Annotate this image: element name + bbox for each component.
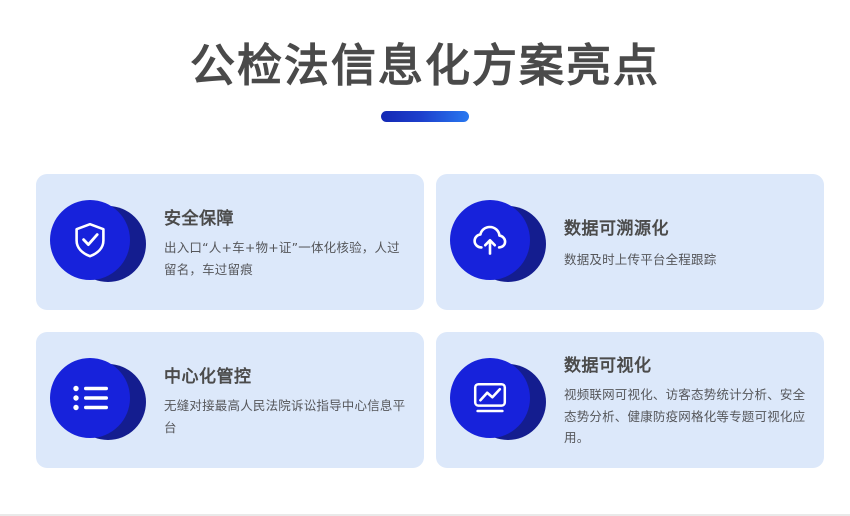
card-description: 出入口“人+车+物+证”一体化核验，人过留名，车过留痕 (164, 237, 408, 280)
highlight-card-centralized-control[interactable]: 中心化管控 无缝对接最高人民法院诉讼指导中心信息平台 (36, 332, 424, 468)
card-title: 中心化管控 (164, 362, 408, 387)
icon-badge (50, 196, 146, 288)
highlight-card-security[interactable]: 安全保障 出入口“人+车+物+证”一体化核验，人过留名，车过留痕 (36, 174, 424, 310)
icon-circle (450, 200, 530, 280)
highlight-card-data-traceability[interactable]: 数据可溯源化 数据及时上传平台全程跟踪 (436, 174, 824, 310)
card-description: 无缝对接最高人民法院诉讼指导中心信息平台 (164, 395, 408, 438)
highlight-card-data-visualization[interactable]: 数据可视化 视频联网可视化、访客态势统计分析、安全态势分析、健康防疫网格化等专题… (436, 332, 824, 468)
icon-circle (50, 358, 130, 438)
card-description: 视频联网可视化、访客态势统计分析、安全态势分析、健康防疫网格化等专题可视化应用。 (564, 384, 808, 449)
card-title: 数据可溯源化 (564, 214, 808, 239)
highlights-card-grid: 安全保障 出入口“人+车+物+证”一体化核验，人过留名，车过留痕 数据可溯源化 … (36, 174, 814, 468)
card-body: 安全保障 出入口“人+车+物+证”一体化核验，人过留名，车过留痕 (146, 204, 408, 280)
card-title: 安全保障 (164, 204, 408, 229)
icon-circle (50, 200, 130, 280)
icon-badge (50, 354, 146, 446)
icon-badge (450, 354, 546, 446)
page-header: 公检法信息化方案亮点 (0, 0, 850, 122)
card-body: 中心化管控 无缝对接最高人民法院诉讼指导中心信息平台 (146, 362, 408, 438)
icon-badge (450, 196, 546, 288)
cloud-upload-icon (470, 221, 510, 259)
card-body: 数据可溯源化 数据及时上传平台全程跟踪 (546, 214, 808, 271)
chart-monitor-icon (471, 381, 509, 415)
title-underline-bar (381, 111, 469, 122)
bullet-list-icon (71, 383, 109, 413)
icon-circle (450, 358, 530, 438)
card-description: 数据及时上传平台全程跟踪 (564, 249, 808, 271)
page-title: 公检法信息化方案亮点 (0, 40, 850, 92)
card-body: 数据可视化 视频联网可视化、访客态势统计分析、安全态势分析、健康防疫网格化等专题… (546, 351, 808, 449)
card-title: 数据可视化 (564, 351, 808, 376)
shield-check-icon (72, 221, 108, 259)
